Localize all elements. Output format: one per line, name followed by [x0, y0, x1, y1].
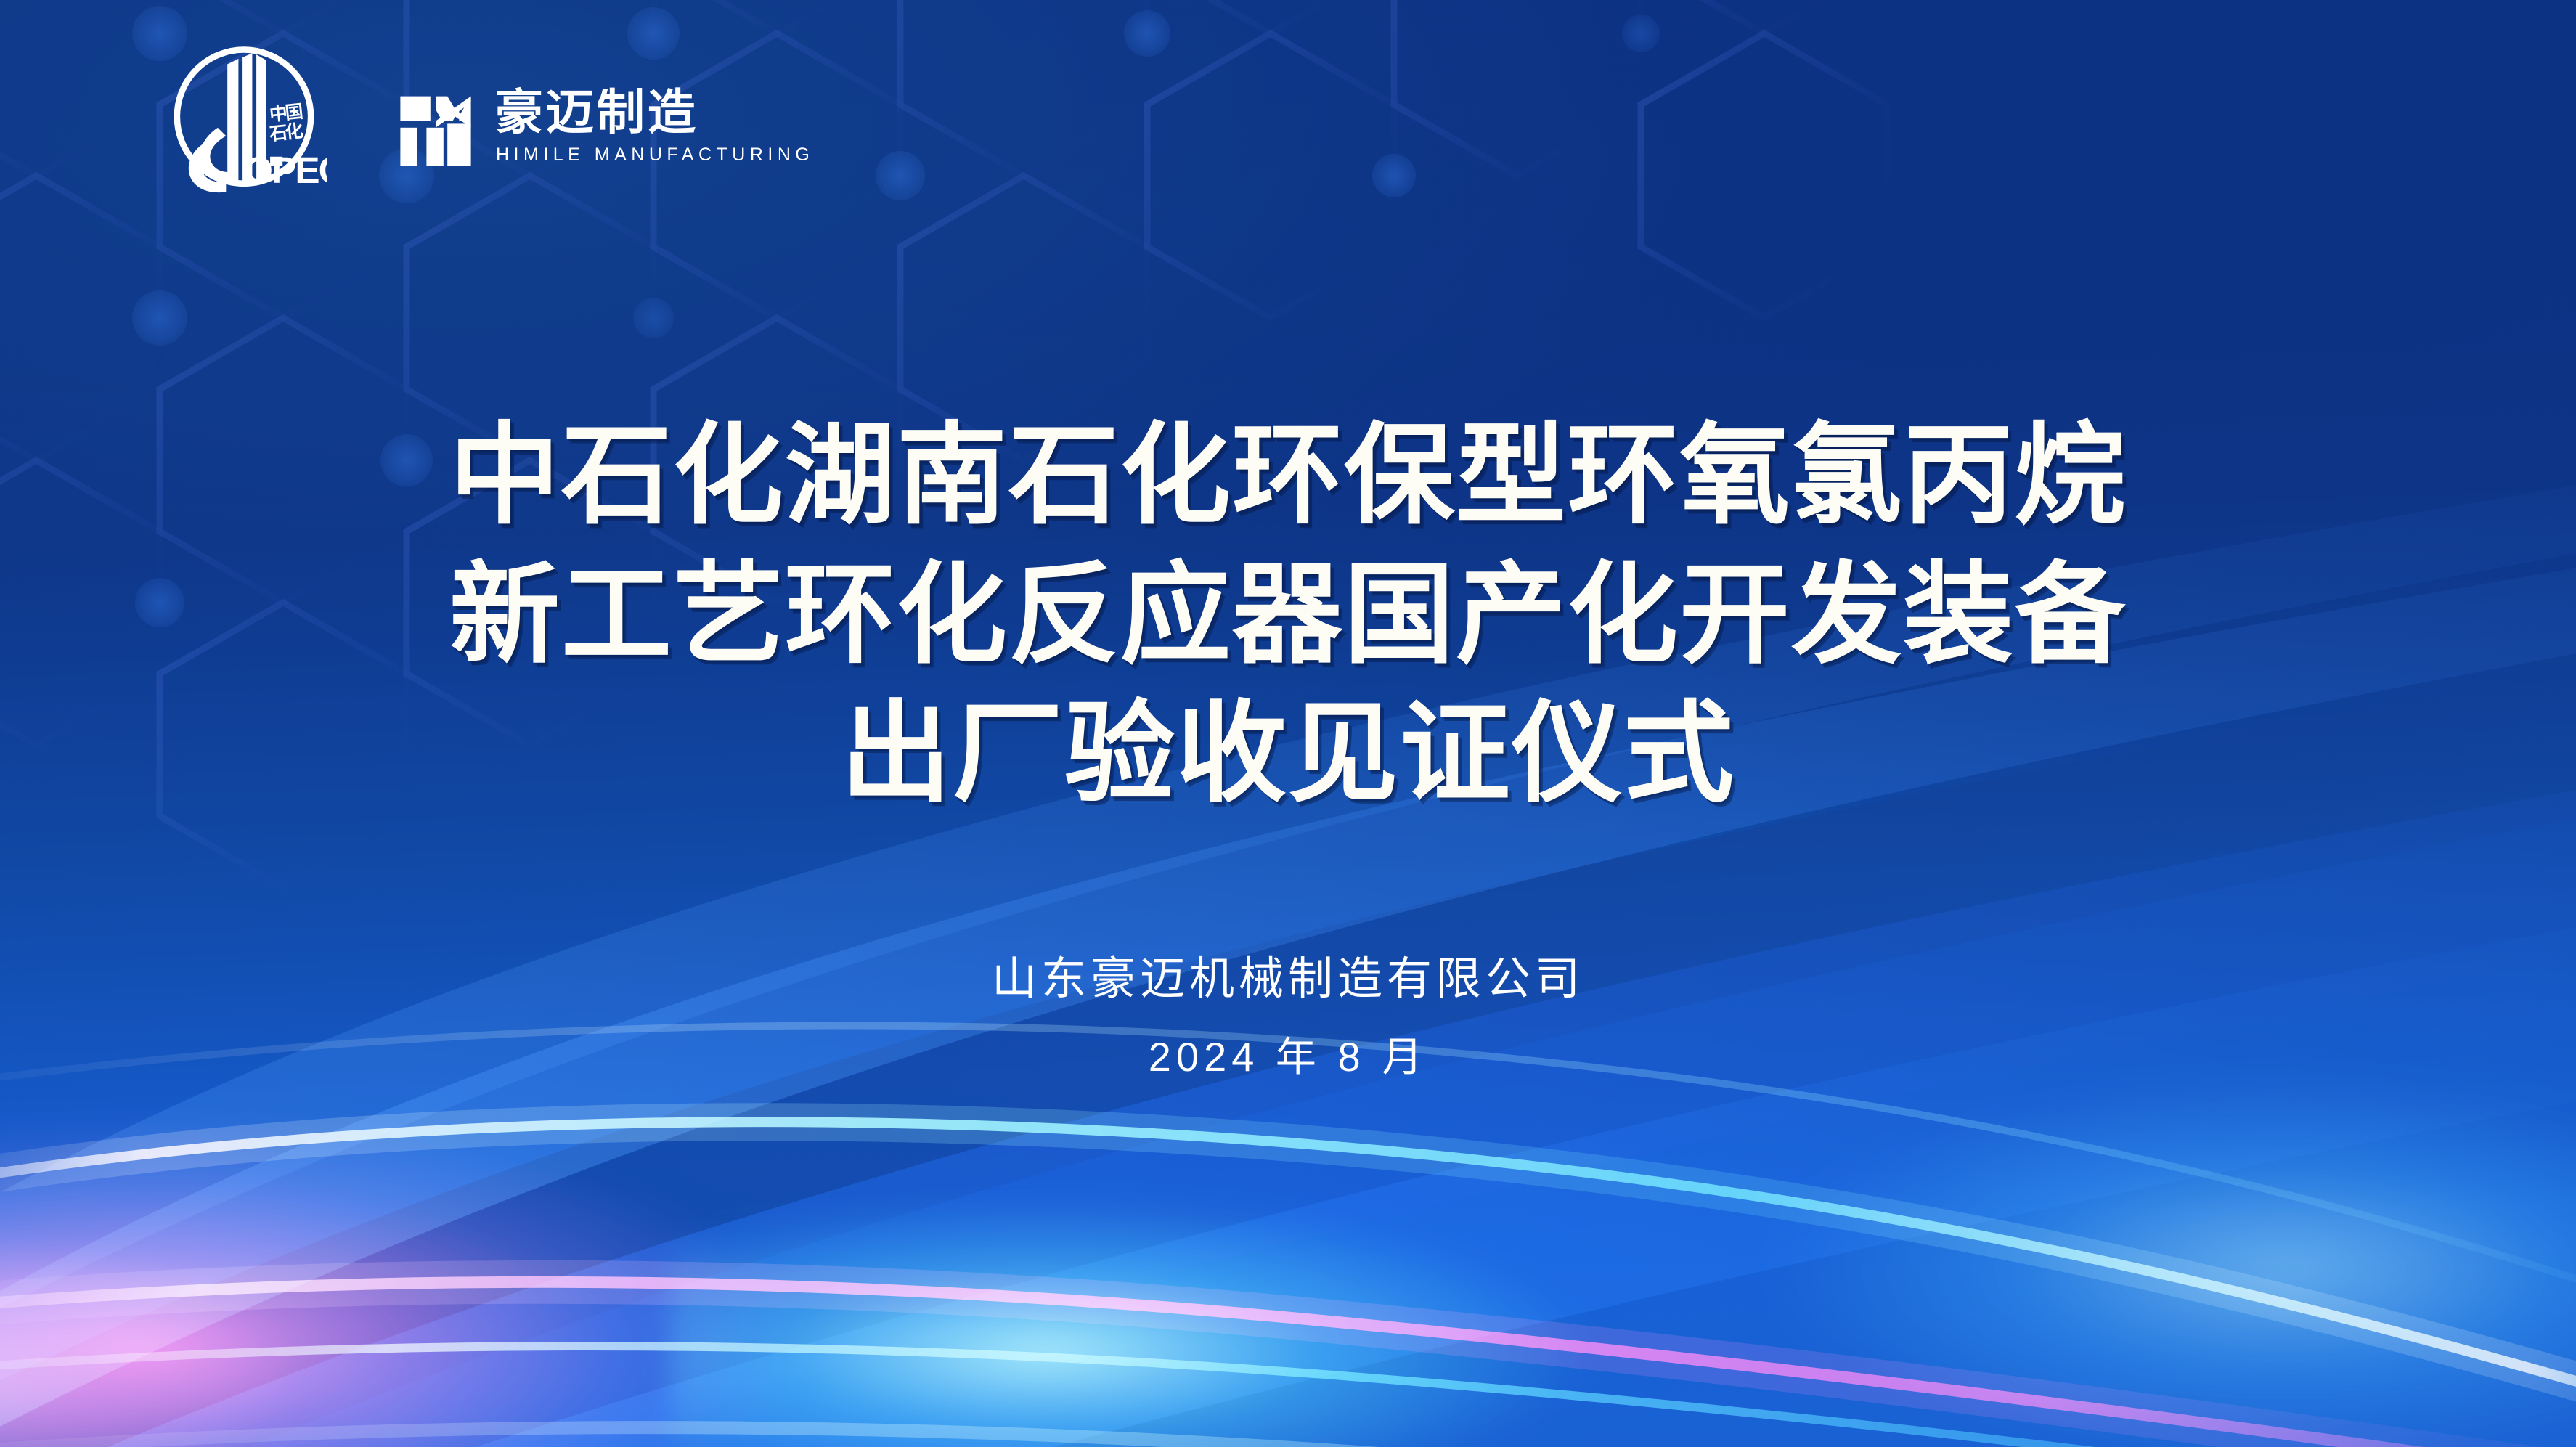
svg-text:豪迈制造: 豪迈制造	[495, 86, 698, 139]
title-line-3: 出厂验收见证仪式	[0, 685, 2576, 824]
title-line-1: 中石化湖南石化环保型环氧氯丙烷	[0, 407, 2576, 546]
himile-english-wordmark: HIMILE MANUFACTURING	[494, 144, 849, 166]
himile-chinese-wordmark: 豪迈制造	[494, 86, 849, 140]
svg-text:OPEC: OPEC	[244, 150, 327, 191]
neon-light-streaks	[0, 839, 2576, 1447]
page-title: 中石化湖南石化环保型环氧氯丙烷 新工艺环化反应器国产化开发装备 出厂验收见证仪式	[0, 407, 2576, 824]
event-date: 2024 年 8 月	[0, 1024, 2576, 1090]
credits-block: 山东豪迈机械制造有限公司 2024 年 8 月	[0, 945, 2576, 1090]
logo-bar: OPEC 中国 石化 豪迈制造	[161, 39, 849, 212]
himile-logo: 豪迈制造 HIMILE MANUFACTURING	[396, 86, 849, 166]
himile-mark-icon	[396, 87, 475, 166]
title-line-2: 新工艺环化反应器国产化开发装备	[0, 546, 2576, 685]
organization-name: 山东豪迈机械制造有限公司	[0, 945, 2576, 1013]
ceremony-backdrop: OPEC 中国 石化 豪迈制造	[0, 0, 2576, 1447]
sinopec-logo: OPEC 中国 石化	[161, 39, 327, 212]
